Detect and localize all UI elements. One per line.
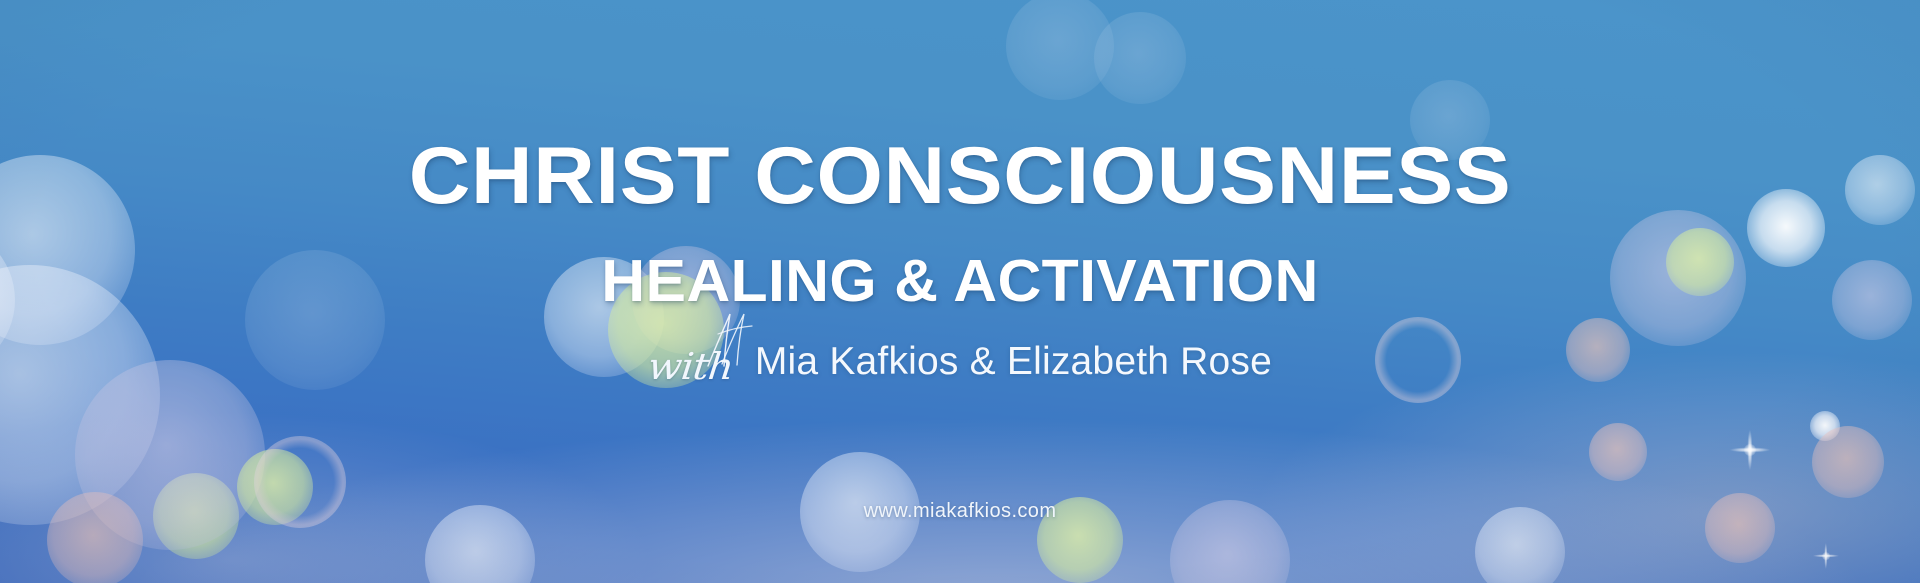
with-script-label: with [646,346,735,388]
bokeh-top-mid-dim [1094,12,1186,104]
bokeh-right-pink-lower [1812,426,1884,498]
promotional-banner: CHRIST CONSCIOUSNESS HEALING & ACTIVATIO… [0,0,1920,583]
presenter-names: Mia Kafkios & Elizabeth Rose [755,340,1272,384]
sparkle-right-small-core [1822,552,1830,560]
sparkle-right-star [1730,430,1770,470]
with-wrap: with [648,338,733,384]
sparkle-right-star-core [1744,444,1756,456]
presenter-row: with Mia Kafkios & Elizabeth Rose [0,338,1920,384]
sparkle-right-small [1813,543,1839,569]
banner-title-primary: CHRIST CONSCIOUSNESS [0,136,1920,217]
website-url: www.miakafkios.com [0,500,1920,523]
banner-title-secondary: HEALING & ACTIVATION [0,252,1920,311]
bokeh-mid-right-pink [1589,423,1647,481]
